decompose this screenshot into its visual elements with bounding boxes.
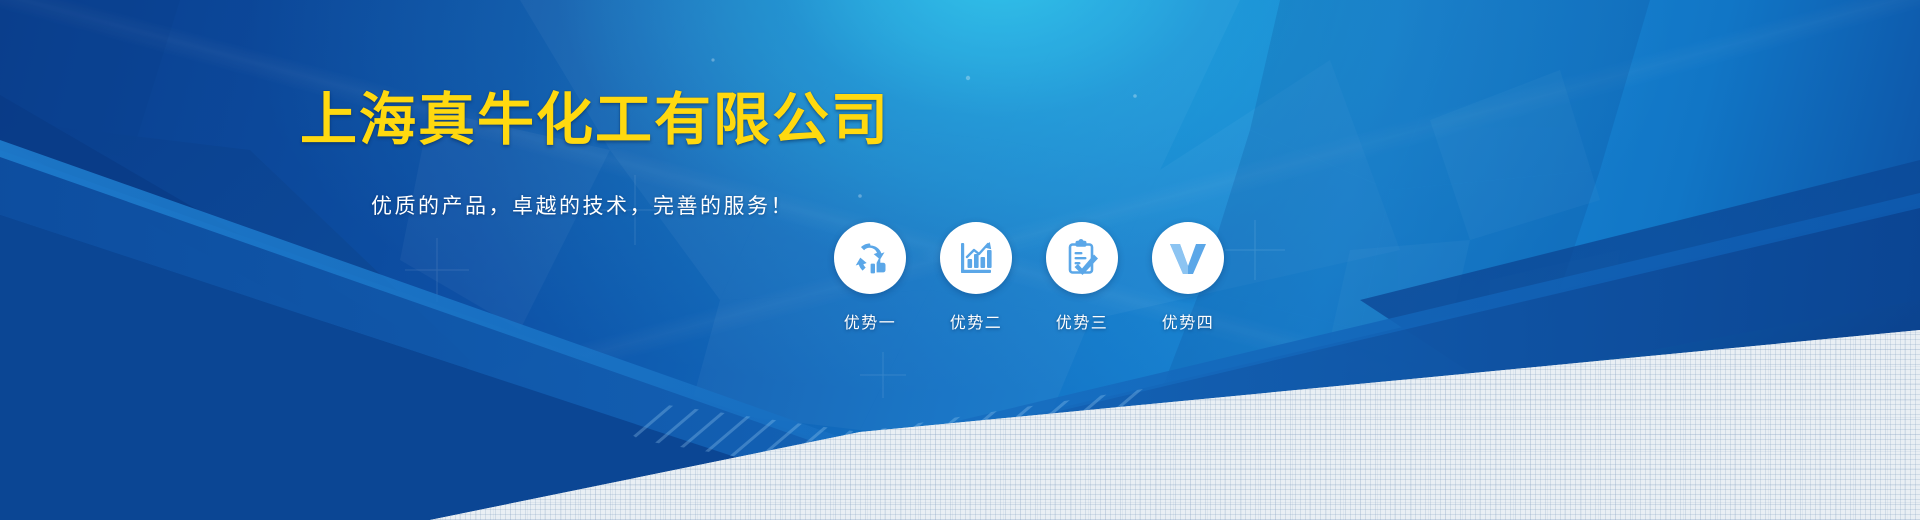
advantage-item-4[interactable]: 优势四 xyxy=(1152,222,1224,333)
advantage-icon-badge-2[interactable] xyxy=(940,222,1012,294)
advantage-icon-badge-4[interactable] xyxy=(1152,222,1224,294)
banner-subtitle: 优质的产品，卓越的技术，完善的服务！ xyxy=(371,196,794,217)
advantage-item-1[interactable]: 优势一 xyxy=(834,222,906,333)
bar-chart-growth-icon xyxy=(955,237,997,279)
advantage-icon-badge-1[interactable] xyxy=(834,222,906,294)
refresh-thumbsup-icon xyxy=(848,236,892,280)
advantage-item-2[interactable]: 优势二 xyxy=(940,222,1012,333)
advantage-label-4: 优势四 xyxy=(1162,309,1215,333)
banner-content: 上海真牛化工有限公司 优质的产品，卓越的技术，完善的服务！ xyxy=(0,0,1920,520)
advantage-label-2: 优势二 xyxy=(950,309,1003,333)
company-hero-banner: 上海真牛化工有限公司 优质的产品，卓越的技术，完善的服务！ xyxy=(0,0,1920,520)
advantage-label-3: 优势三 xyxy=(1056,309,1109,333)
clipboard-check-icon xyxy=(1061,237,1103,279)
page-title: 上海真牛化工有限公司 xyxy=(300,92,890,149)
advantage-item-3[interactable]: 优势三 xyxy=(1046,222,1118,333)
advantage-label-1: 优势一 xyxy=(844,309,897,333)
v-check-icon xyxy=(1166,236,1210,280)
advantages-list: 优势一 xyxy=(834,222,1224,333)
advantage-icon-badge-3[interactable] xyxy=(1046,222,1118,294)
